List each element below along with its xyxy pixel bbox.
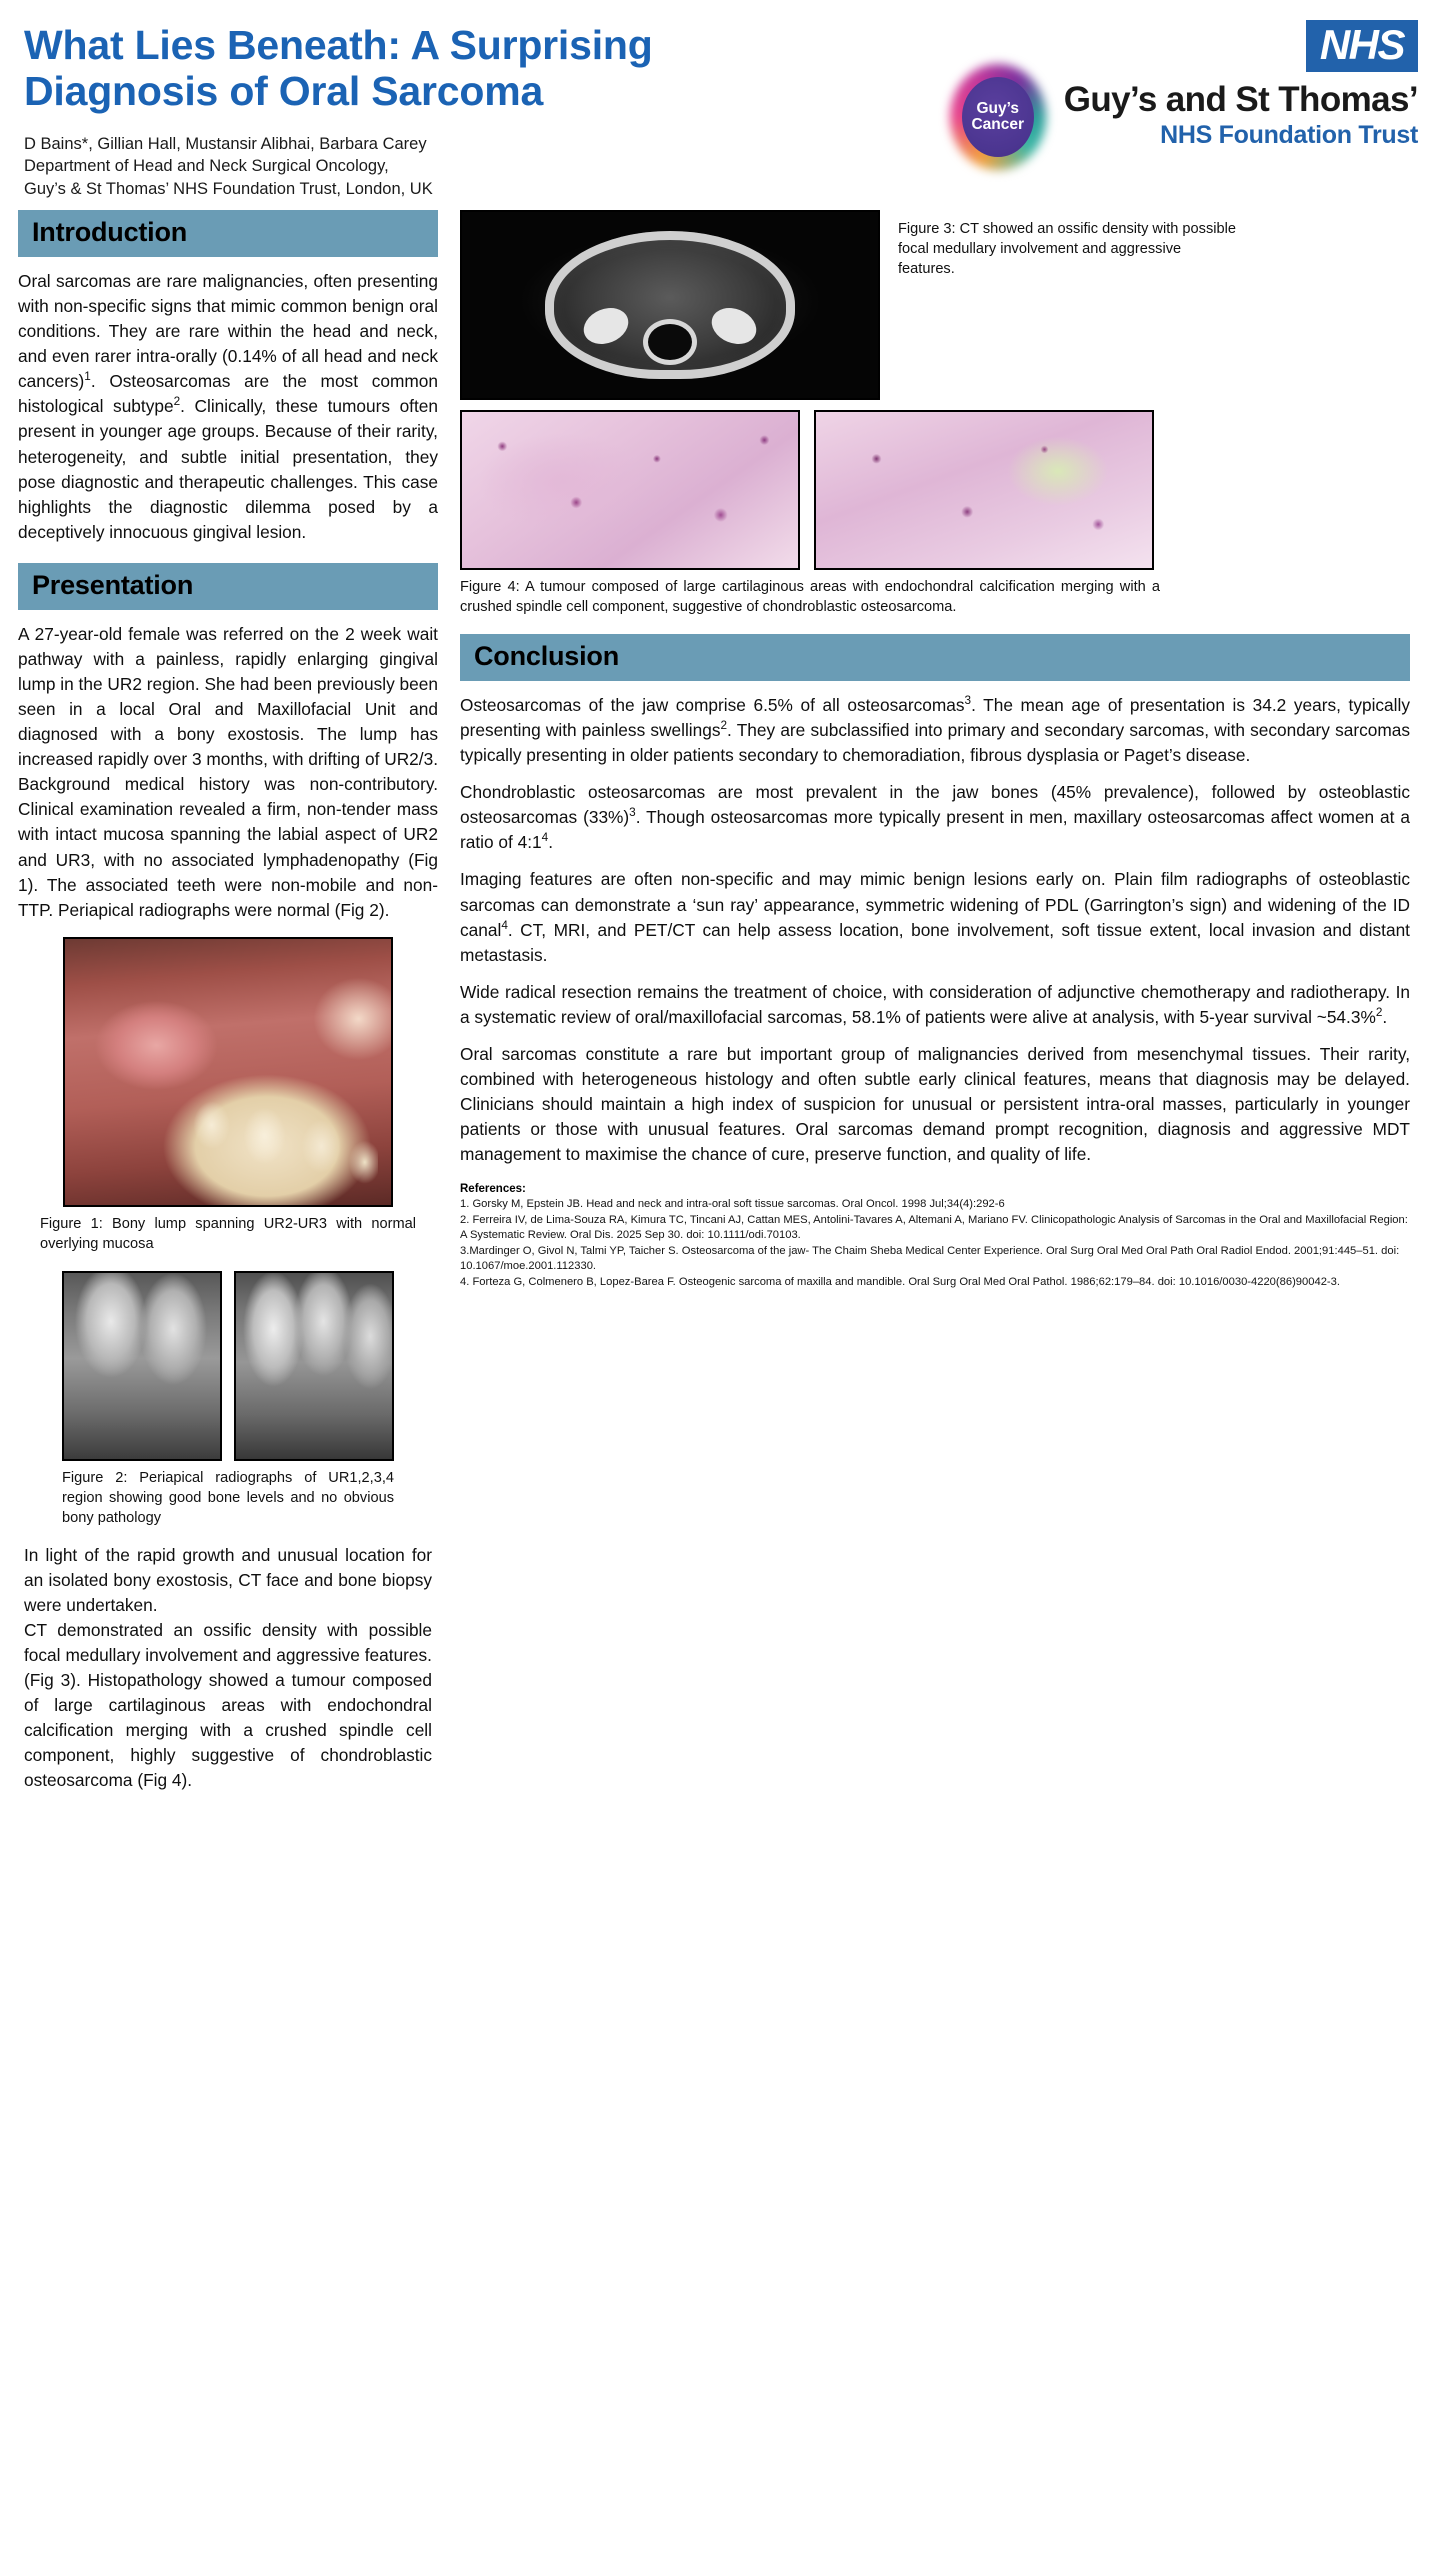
concl-p3-b: . CT, MRI, and PET/CT can help assess lo… bbox=[460, 920, 1410, 965]
figure-1-caption: Figure 1: Bony lump spanning UR2-UR3 wit… bbox=[18, 1215, 438, 1255]
section-heading-presentation: Presentation bbox=[18, 563, 438, 610]
concl-p2-c: . bbox=[548, 832, 553, 852]
nhs-trust-lockup: NHS Guy’s and St Thomas’ NHS Foundation … bbox=[1064, 18, 1418, 148]
figure-1-image bbox=[63, 937, 393, 1207]
concl-p4-a: Wide radical resection remains the treat… bbox=[460, 982, 1410, 1027]
figure-4-image-right bbox=[814, 410, 1154, 570]
figure-3-airway bbox=[648, 324, 692, 360]
trust-subtitle: NHS Foundation Trust bbox=[1064, 123, 1418, 148]
references-list: 1. Gorsky M, Epstein JB. Head and neck a… bbox=[460, 1197, 1410, 1290]
department-name: Department of Head and Neck Surgical Onc… bbox=[24, 155, 704, 178]
poster-body: Introduction Oral sarcomas are rare mali… bbox=[0, 210, 1440, 1794]
conclusion-paragraph-3: Imaging features are often non-specific … bbox=[460, 867, 1410, 967]
poster-header: What Lies Beneath: A Surprising Diagnosi… bbox=[0, 0, 1440, 210]
presentation-text: A 27-year-old female was referred on the… bbox=[18, 622, 438, 923]
introduction-text: Oral sarcomas are rare malignancies, oft… bbox=[18, 269, 438, 545]
page-title: What Lies Beneath: A Surprising Diagnosi… bbox=[24, 22, 704, 115]
institution-name: Guy’s & St Thomas’ NHS Foundation Trust,… bbox=[24, 178, 704, 201]
trust-name: Guy’s and St Thomas’ bbox=[1064, 82, 1418, 117]
section-heading-conclusion: Conclusion bbox=[460, 634, 1410, 681]
nhs-logo-icon: NHS bbox=[1306, 20, 1418, 72]
figure-2-image-left bbox=[62, 1271, 222, 1461]
workup-text: In light of the rapid growth and unusual… bbox=[18, 1543, 438, 1794]
figure-4-image-left bbox=[460, 410, 800, 570]
logo-core: Guy’s Cancer bbox=[962, 77, 1034, 157]
figure-2-image-right bbox=[234, 1271, 394, 1461]
figure-3-caption: Figure 3: CT showed an ossific density w… bbox=[898, 220, 1238, 280]
reference-item: 3.Mardinger O, Givol N, Talmi YP, Taiche… bbox=[460, 1244, 1410, 1274]
figure-2-caption: Figure 2: Periapical radiographs of UR1,… bbox=[18, 1469, 438, 1529]
left-column: Introduction Oral sarcomas are rare mali… bbox=[18, 210, 438, 1794]
conclusion-paragraph-2: Chondroblastic osteosarcomas are most pr… bbox=[460, 780, 1410, 855]
brand-lockup: Guy’s Cancer NHS Guy’s and St Thomas’ NH… bbox=[950, 18, 1418, 170]
figure-2-image-group bbox=[18, 1271, 438, 1461]
intro-part-c: . Clinically, these tumours often presen… bbox=[18, 396, 438, 541]
concl-p4-b: . bbox=[1382, 1007, 1387, 1027]
logo-line-1: Guy’s bbox=[976, 101, 1019, 117]
reference-item: 4. Forteza G, Colmenero B, Lopez-Barea F… bbox=[460, 1275, 1410, 1290]
figure-3-image bbox=[460, 210, 880, 400]
conclusion-paragraph-5: Oral sarcomas constitute a rare but impo… bbox=[460, 1042, 1410, 1167]
conclusion-paragraph-1: Osteosarcomas of the jaw comprise 6.5% o… bbox=[460, 693, 1410, 768]
references-heading: References: bbox=[460, 1183, 1410, 1195]
section-heading-introduction: Introduction bbox=[18, 210, 438, 257]
logo-line-2: Cancer bbox=[971, 117, 1024, 133]
author-names: D Bains*, Gillian Hall, Mustansir Alibha… bbox=[24, 133, 704, 156]
reference-item: 2. Ferreira IV, de Lima-Souza RA, Kimura… bbox=[460, 1213, 1410, 1243]
guys-cancer-logo-icon: Guy’s Cancer bbox=[950, 64, 1046, 170]
figure-4-image-group bbox=[460, 410, 1410, 570]
reference-item: 1. Gorsky M, Epstein JB. Head and neck a… bbox=[460, 1197, 1410, 1212]
figure-3-row: Figure 3: CT showed an ossific density w… bbox=[460, 210, 1410, 400]
conclusion-paragraph-4: Wide radical resection remains the treat… bbox=[460, 980, 1410, 1030]
figure-1-teeth-detail bbox=[189, 1088, 378, 1194]
figure-4-caption: Figure 4: A tumour composed of large car… bbox=[460, 578, 1160, 618]
concl-p1-a: Osteosarcomas of the jaw comprise 6.5% o… bbox=[460, 695, 965, 715]
right-column: Figure 3: CT showed an ossific density w… bbox=[460, 210, 1410, 1291]
author-block: D Bains*, Gillian Hall, Mustansir Alibha… bbox=[24, 133, 704, 201]
